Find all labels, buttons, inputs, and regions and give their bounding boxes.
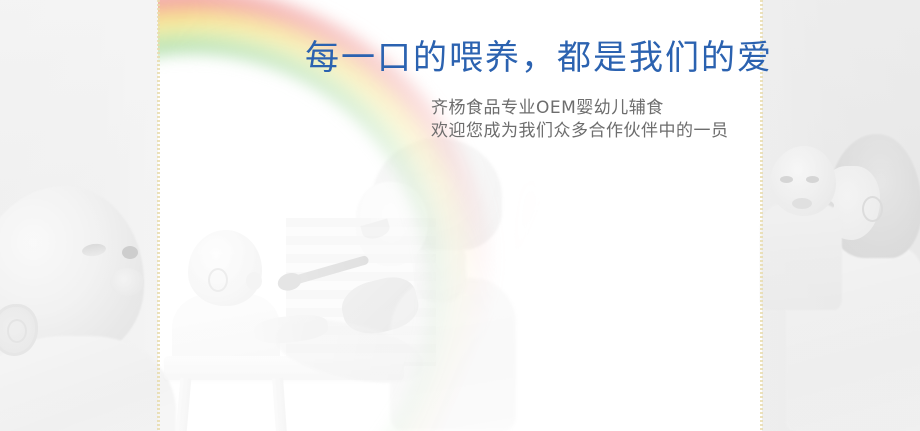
left-dotted-divider [157, 0, 160, 431]
right-background-panel [762, 0, 920, 431]
subtitle-line-2: 欢迎您成为我们众多合作伙伴中的一员 [431, 120, 729, 143]
subtitle-block: 齐杨食品专业OEM婴幼儿辅食 欢迎您成为我们众多合作伙伴中的一员 [431, 97, 729, 143]
subtitle-line-1: 齐杨食品专业OEM婴幼儿辅食 [431, 97, 729, 120]
page-title: 每一口的喂养，都是我们的爱 [305, 36, 773, 80]
left-background-panel [0, 0, 158, 431]
promo-banner: 每一口的喂养，都是我们的爱 齐杨食品专业OEM婴幼儿辅食 欢迎您成为我们众多合作… [0, 0, 920, 431]
